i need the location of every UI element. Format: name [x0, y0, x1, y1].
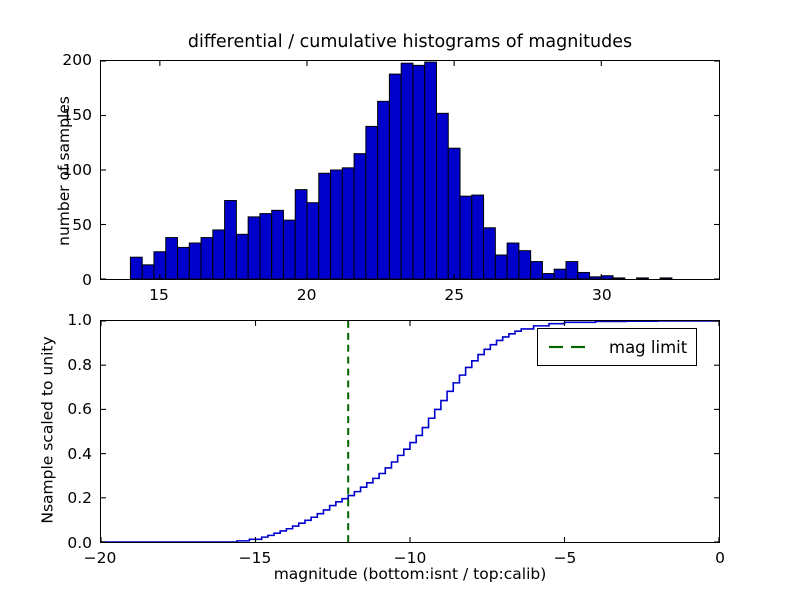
top-x-tick-label: 25 [444, 286, 464, 304]
top-x-tick-label: 20 [297, 286, 317, 304]
histogram-bar [189, 243, 201, 279]
histogram-bar [166, 238, 178, 279]
top-x-tick-label: 30 [592, 286, 612, 304]
legend[interactable]: mag limit [537, 328, 697, 366]
histogram-bar [601, 276, 613, 279]
histogram-bar [319, 173, 331, 279]
histogram-bar [448, 148, 460, 279]
histogram-bar [413, 65, 425, 279]
histogram-bar [507, 243, 519, 279]
chart-title: differential / cumulative histograms of … [100, 32, 720, 52]
differential-histogram-axes [100, 60, 720, 280]
differential-histogram-plot [101, 61, 719, 279]
bottom-x-tick-label: 0 [715, 549, 725, 567]
figure-canvas: differential / cumulative histograms of … [0, 0, 800, 600]
histogram-bar [248, 217, 260, 279]
bottom-x-tick-label: −20 [84, 549, 117, 567]
histogram-bar [472, 195, 484, 279]
histogram-bar [201, 238, 213, 279]
histogram-bar [283, 220, 295, 279]
mag-limit-dash-icon [547, 340, 593, 354]
histogram-bar [578, 272, 590, 279]
histogram-bar [130, 257, 142, 279]
histogram-bar [531, 262, 543, 279]
bottom-x-tick-label: −15 [239, 549, 272, 567]
histogram-bar [519, 251, 531, 279]
bottom-panel-x-axis-label: magnitude (bottom:isnt / top:calib) [100, 565, 720, 583]
histogram-bar [495, 255, 507, 279]
top-y-tick-label: 50 [6, 216, 92, 234]
histogram-bar [378, 101, 390, 279]
histogram-bar [436, 113, 448, 279]
bottom-y-tick-label: 0.6 [6, 400, 92, 418]
histogram-bar [542, 274, 554, 279]
top-y-tick-label: 0 [6, 271, 92, 289]
histogram-bar [272, 210, 284, 279]
top-x-tick-label: 15 [149, 286, 169, 304]
top-y-tick-label: 150 [6, 106, 92, 124]
histogram-bar [295, 190, 307, 279]
histogram-bar [401, 63, 413, 279]
bottom-x-tick-label: −5 [554, 549, 577, 567]
top-y-tick-label: 100 [6, 161, 92, 179]
histogram-bar [660, 278, 672, 279]
bottom-y-tick-label: 0.0 [6, 534, 92, 552]
bottom-y-tick-label: 1.0 [6, 311, 92, 329]
histogram-bar [389, 74, 401, 279]
bottom-y-tick-label: 0.4 [6, 445, 92, 463]
bottom-y-tick-label: 0.2 [6, 489, 92, 507]
histogram-bar [225, 201, 237, 279]
histogram-bar [613, 278, 625, 279]
histogram-bar [590, 277, 602, 279]
histogram-bar [637, 278, 649, 279]
histogram-bar [425, 62, 437, 279]
histogram-bar [142, 265, 154, 279]
bottom-y-tick-label: 0.8 [6, 356, 92, 374]
histogram-bar [484, 228, 496, 279]
histogram-bar [366, 126, 378, 279]
histogram-bar [566, 262, 578, 279]
histogram-bar [236, 234, 248, 279]
histogram-bar [342, 168, 354, 279]
histogram-bar [460, 196, 472, 279]
histogram-bar [354, 154, 366, 279]
legend-label-mag-limit: mag limit [609, 338, 687, 357]
histogram-bar [554, 269, 566, 279]
histogram-bar [331, 170, 343, 279]
histogram-bar [260, 214, 272, 279]
bottom-panel-y-axis-label: Nsample scaled to unity [39, 319, 57, 542]
bottom-x-tick-label: −10 [394, 549, 427, 567]
histogram-bar [307, 203, 319, 279]
histogram-bar [178, 247, 190, 279]
histogram-bar [213, 230, 225, 279]
top-y-tick-label: 200 [6, 51, 92, 69]
